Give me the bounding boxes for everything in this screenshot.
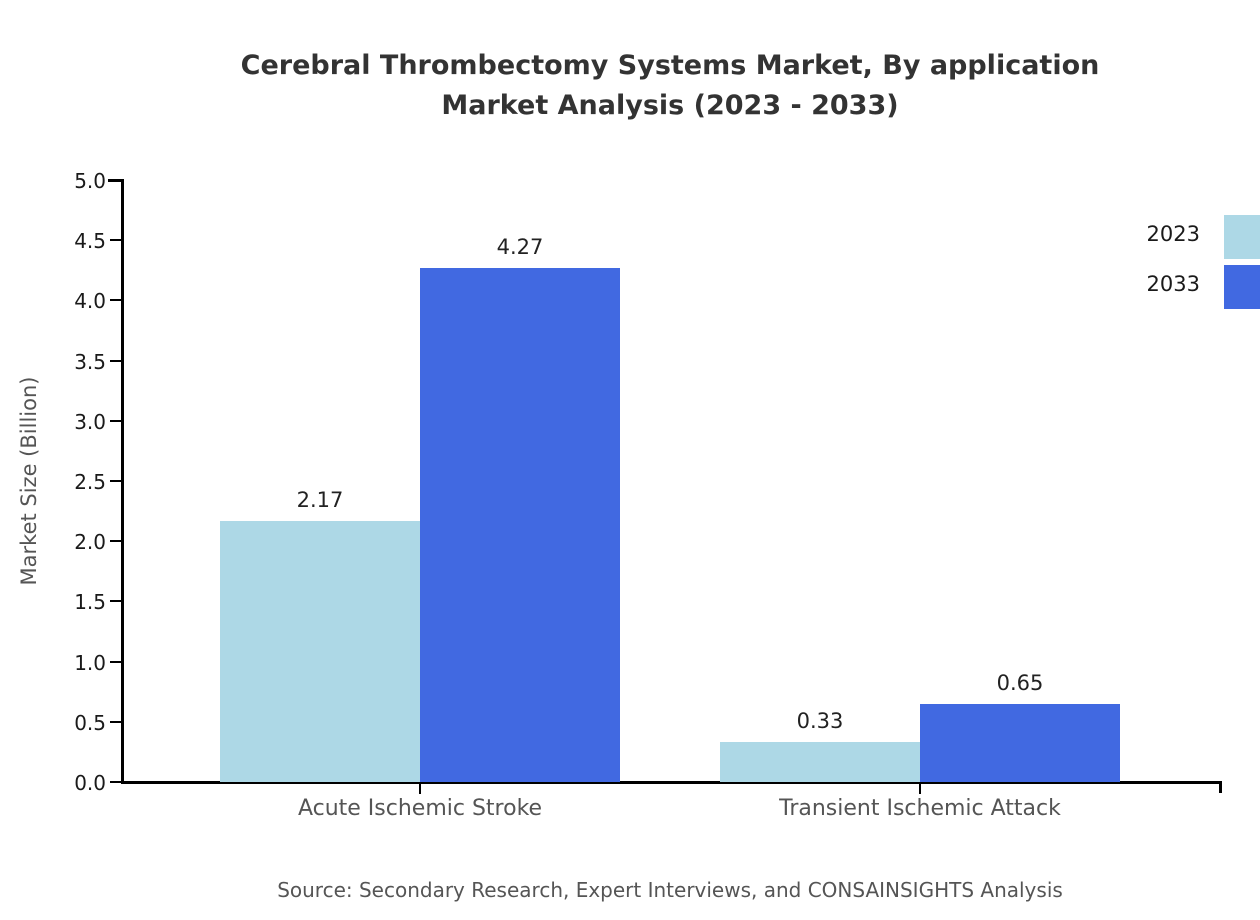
y-axis-tick-label: 4.5: [36, 229, 106, 253]
bar[interactable]: [920, 704, 1120, 782]
bar-value-label: 2.17: [240, 488, 400, 512]
y-axis-tick-label: 1.5: [36, 590, 106, 614]
x-axis-right-cap: [1219, 781, 1222, 793]
legend-item[interactable]: 2033: [1130, 265, 1260, 315]
legend-item-label: 2023: [1080, 222, 1200, 246]
y-axis-tick-label: 3.0: [36, 410, 106, 434]
y-axis-tick-label: 0.5: [36, 711, 106, 735]
x-axis-tick: [419, 782, 421, 794]
chart-title: Cerebral Thrombectomy Systems Market, By…: [0, 46, 1260, 126]
legend-color-swatch: [1224, 265, 1260, 309]
y-axis-tick: [110, 781, 122, 783]
legend-item-label: 2033: [1080, 272, 1200, 296]
y-axis-tick: [110, 239, 122, 241]
bar-value-label: 4.27: [440, 235, 600, 259]
y-axis-tick-label: 4.0: [36, 289, 106, 313]
y-axis-tick-label: 0.0: [36, 771, 106, 795]
y-axis-tick: [110, 661, 122, 663]
source-note: Source: Secondary Research, Expert Inter…: [0, 878, 1260, 902]
y-axis-tick: [110, 600, 122, 602]
y-axis-tick: [110, 420, 122, 422]
y-axis-tick: [110, 360, 122, 362]
y-axis-tick-label: 2.0: [36, 530, 106, 554]
bar[interactable]: [220, 521, 420, 782]
y-axis-tick: [110, 179, 122, 181]
y-axis-tick: [110, 540, 122, 542]
legend-color-swatch: [1224, 215, 1260, 259]
chart-title-line-1: Cerebral Thrombectomy Systems Market, By…: [0, 46, 1260, 86]
y-axis-tick-label: 1.0: [36, 651, 106, 675]
x-axis-tick-label: Acute Ischemic Stroke: [190, 796, 650, 821]
chart-figure: Cerebral Thrombectomy Systems Market, By…: [0, 0, 1260, 920]
bar[interactable]: [720, 742, 920, 782]
y-axis-tick-label: 5.0: [36, 169, 106, 193]
legend-item[interactable]: 2023: [1130, 215, 1260, 265]
x-axis-tick: [919, 782, 921, 794]
chart-legend: 20232033: [1130, 215, 1260, 315]
chart-title-line-2: Market Analysis (2023 - 2033): [0, 86, 1260, 126]
y-axis-tick: [110, 299, 122, 301]
bar-value-label: 0.65: [940, 671, 1100, 695]
y-axis-tick: [110, 721, 122, 723]
bar[interactable]: [420, 268, 620, 782]
x-axis-tick-label: Transient Ischemic Attack: [690, 796, 1150, 821]
bar-value-label: 0.33: [740, 709, 900, 733]
y-axis-tick: [110, 480, 122, 482]
y-axis-tick-label: 2.5: [36, 470, 106, 494]
plot-area: Market Size (Billion) 0.00.51.01.52.02.5…: [122, 180, 1220, 782]
y-axis-tick-label: 3.5: [36, 350, 106, 374]
